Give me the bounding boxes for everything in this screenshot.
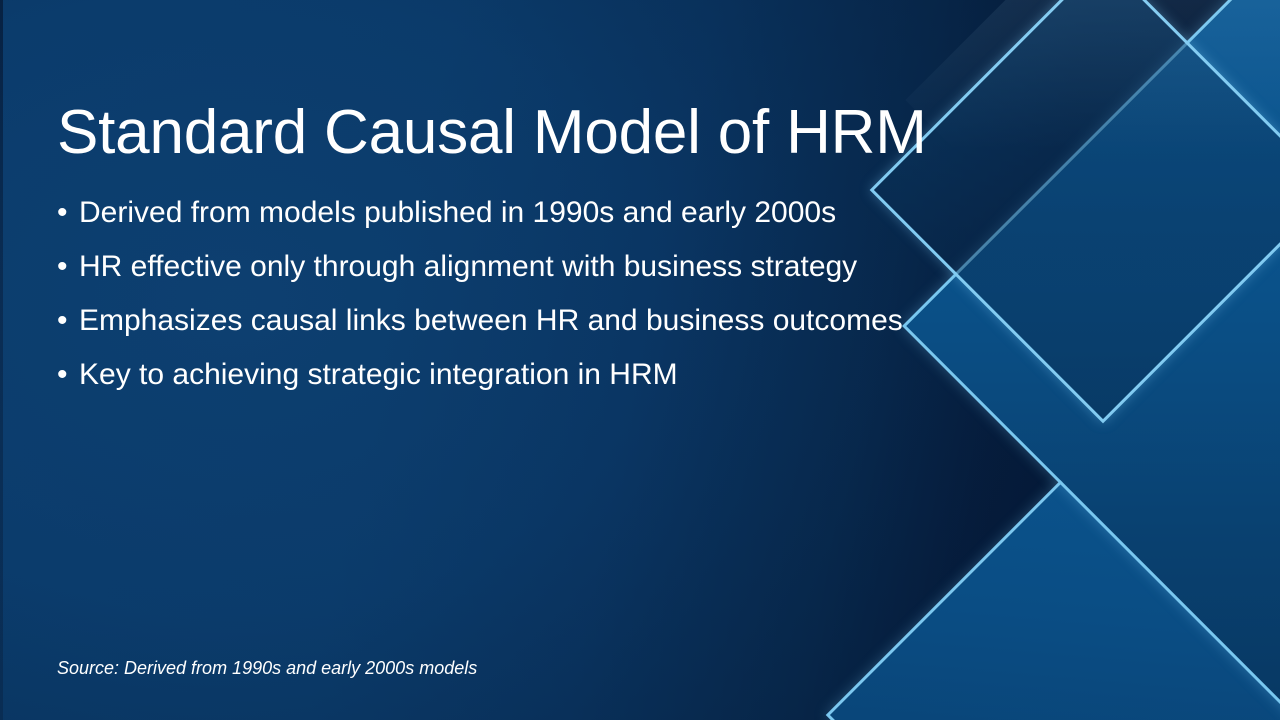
bullet-item-4: • Key to achieving strategic integration… (57, 348, 987, 402)
bullet-marker-icon: • (57, 306, 68, 336)
bullet-text-4: Key to achieving strategic integration i… (79, 360, 678, 390)
bullet-marker-icon: • (57, 198, 68, 228)
slide-canvas: Standard Causal Model of HRM • Derived f… (0, 0, 1280, 720)
bullet-marker-icon: • (57, 360, 68, 390)
bullet-item-3: • Emphasizes causal links between HR and… (57, 294, 987, 348)
bullet-list: • Derived from models published in 1990s… (57, 186, 987, 402)
bullet-text-3: Emphasizes causal links between HR and b… (79, 306, 903, 336)
slide-content: Standard Causal Model of HRM • Derived f… (0, 0, 1280, 720)
slide-title: Standard Causal Model of HRM (57, 98, 917, 167)
source-note: Source: Derived from 1990s and early 200… (57, 658, 477, 680)
bullet-item-1: • Derived from models published in 1990s… (57, 186, 987, 240)
bullet-text-1: Derived from models published in 1990s a… (79, 198, 836, 228)
bullet-marker-icon: • (57, 252, 68, 282)
bullet-item-2: • HR effective only through alignment wi… (57, 240, 987, 294)
bullet-text-2: HR effective only through alignment with… (79, 252, 857, 282)
